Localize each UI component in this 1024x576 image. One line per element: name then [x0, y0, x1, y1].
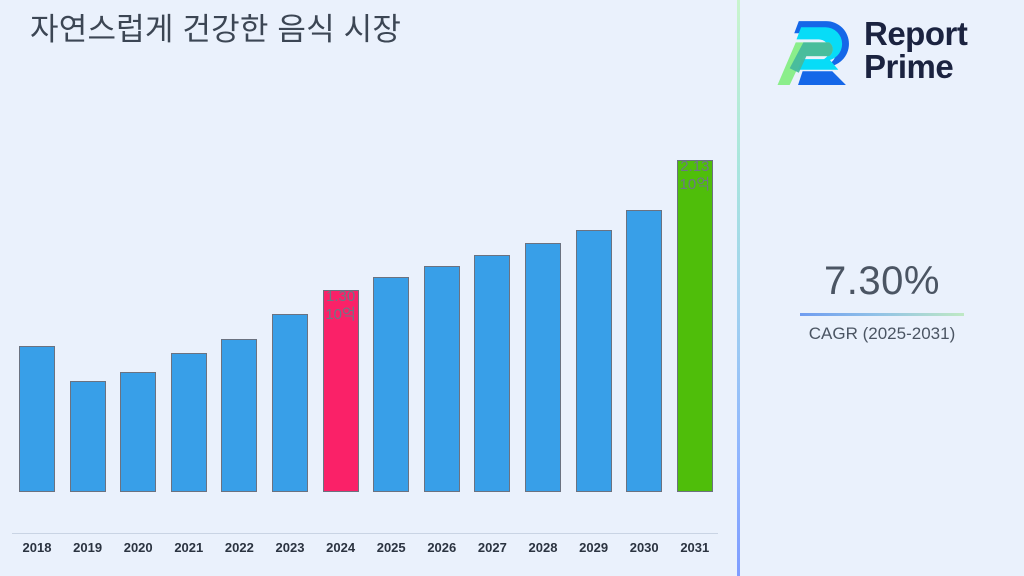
- x-tick-2022: 2022: [211, 540, 267, 555]
- bar-value-label-2024: 1.30 10억: [305, 288, 377, 324]
- x-tick-2027: 2027: [464, 540, 520, 555]
- bar-2026: [424, 266, 460, 492]
- bar-2029: [576, 230, 612, 492]
- bar-2028: [525, 243, 561, 492]
- cagr-value: 7.30%: [740, 255, 1024, 307]
- bar-2020: [120, 372, 156, 492]
- x-tick-2029: 2029: [566, 540, 622, 555]
- cagr-caption: CAGR (2025-2031): [740, 323, 1024, 345]
- x-tick-2031: 2031: [667, 540, 723, 555]
- bar-chart-plot-area: 1.30 10억2.13 10억: [0, 0, 738, 534]
- brand-panel: Report Prime 7.30% CAGR (2025-2031): [740, 0, 1024, 576]
- cagr-divider-rule: [800, 313, 964, 316]
- bar-2027: [474, 255, 510, 492]
- bar-2018: [19, 346, 55, 492]
- cagr-block: 7.30% CAGR (2025-2031): [740, 255, 1024, 345]
- x-tick-2023: 2023: [262, 540, 318, 555]
- bar-2019: [70, 381, 106, 492]
- bar-2025: [373, 277, 409, 492]
- bar-2022: [221, 339, 257, 492]
- x-tick-2026: 2026: [414, 540, 470, 555]
- logo-wordmark-line1: Report: [864, 17, 967, 50]
- x-tick-2019: 2019: [60, 540, 116, 555]
- x-tick-2018: 2018: [9, 540, 65, 555]
- logo-wordmark-line2: Prime: [864, 50, 967, 83]
- x-tick-2028: 2028: [515, 540, 571, 555]
- report-prime-r-mark-icon: [776, 12, 852, 88]
- bar-2031: [677, 160, 713, 492]
- x-tick-2024: 2024: [313, 540, 369, 555]
- logo-wordmark: Report Prime: [864, 17, 967, 83]
- bar-2030: [626, 210, 662, 492]
- logo: Report Prime: [776, 12, 967, 88]
- bar-value-label-2031: 2.13 10억: [659, 158, 731, 194]
- bar-2023: [272, 314, 308, 492]
- chart-panel: 자연스럽게 건강한 음식 시장 1.30 10억2.13 10억 2018201…: [0, 0, 738, 576]
- bar-2021: [171, 353, 207, 492]
- x-tick-2025: 2025: [363, 540, 419, 555]
- x-tick-2021: 2021: [161, 540, 217, 555]
- x-tick-2030: 2030: [616, 540, 672, 555]
- x-axis-line: [12, 533, 718, 534]
- x-tick-2020: 2020: [110, 540, 166, 555]
